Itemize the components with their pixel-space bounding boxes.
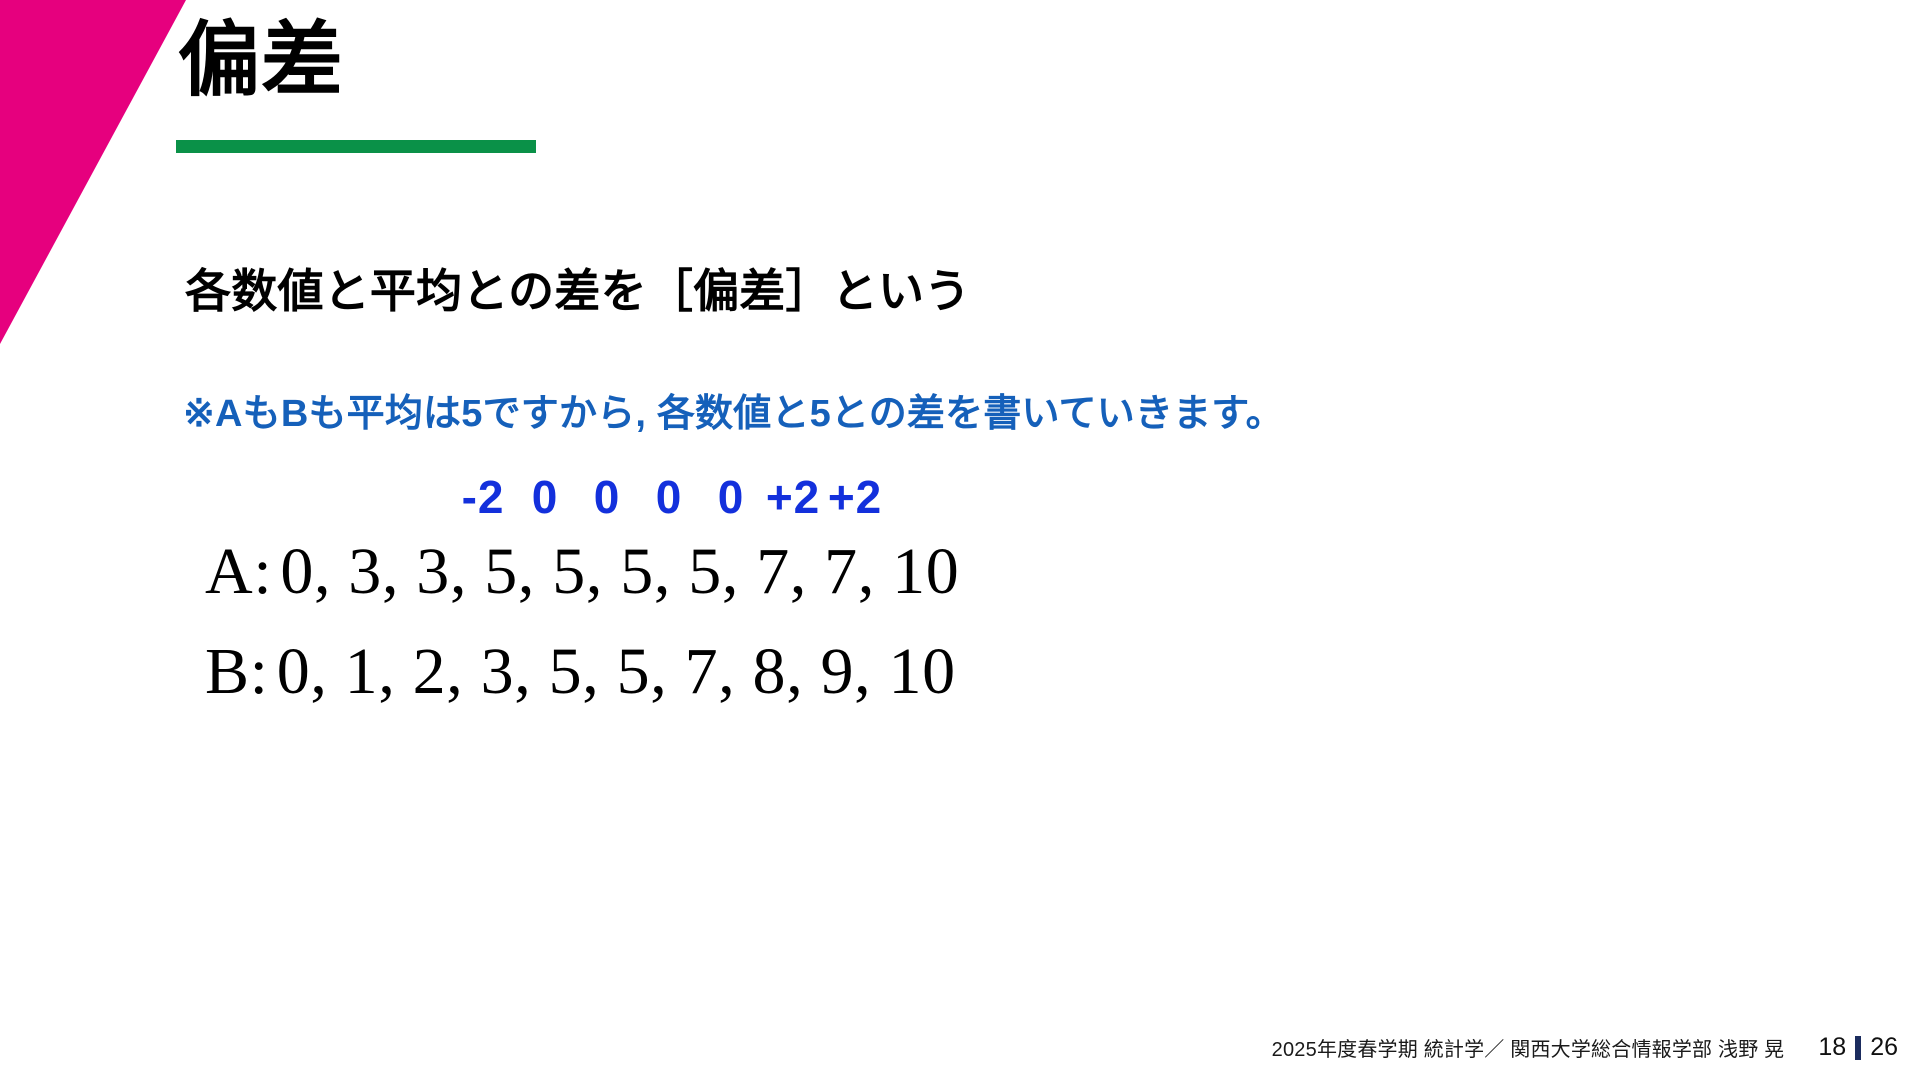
series-a-label: A: <box>205 535 272 608</box>
footer-credit: 2025年度春学期 統計学／ 関西大学総合情報学部 浅野 晃 <box>1272 1033 1785 1062</box>
slide-footer: 2025年度春学期 統計学／ 関西大学総合情報学部 浅野 晃 18 26 <box>1272 1033 1898 1062</box>
page-current: 18 <box>1818 1033 1846 1062</box>
page-total: 26 <box>1870 1033 1898 1062</box>
deviation-value: +2 <box>762 470 824 524</box>
page-title: 偏差 <box>178 14 344 108</box>
series-b-values: 0, 1, 2, 3, 5, 5, 7, 8, 9, 10 <box>277 635 956 708</box>
page-separator-icon <box>1855 1036 1861 1060</box>
deviation-value: -2 <box>452 470 514 524</box>
deviation-value: 0 <box>576 470 638 524</box>
slide: 偏差 各数値と平均との差を［偏差］という ※AもBも平均は5ですから, 各数値と… <box>0 0 1920 1080</box>
note-text: ※AもBも平均は5ですから, 各数値と5との差を書いていきます。 <box>183 382 1284 437</box>
page-indicator: 18 26 <box>1818 1033 1898 1062</box>
deviation-value: 0 <box>514 470 576 524</box>
definition-text: 各数値と平均との差を［偏差］という <box>185 255 970 321</box>
deviation-value: 0 <box>638 470 700 524</box>
deviation-values-row: -20000+2+2 <box>452 470 886 524</box>
series-b-label: B: <box>205 635 269 708</box>
data-series-a: A:0, 3, 3, 5, 5, 5, 5, 7, 7, 10 <box>205 534 959 610</box>
data-series-b: B:0, 1, 2, 3, 5, 5, 7, 8, 9, 10 <box>205 634 956 710</box>
title-underline-rule <box>176 140 536 153</box>
deviation-value: 0 <box>700 470 762 524</box>
deviation-value: +2 <box>824 470 886 524</box>
series-a-values: 0, 3, 3, 5, 5, 5, 5, 7, 7, 10 <box>280 535 959 608</box>
